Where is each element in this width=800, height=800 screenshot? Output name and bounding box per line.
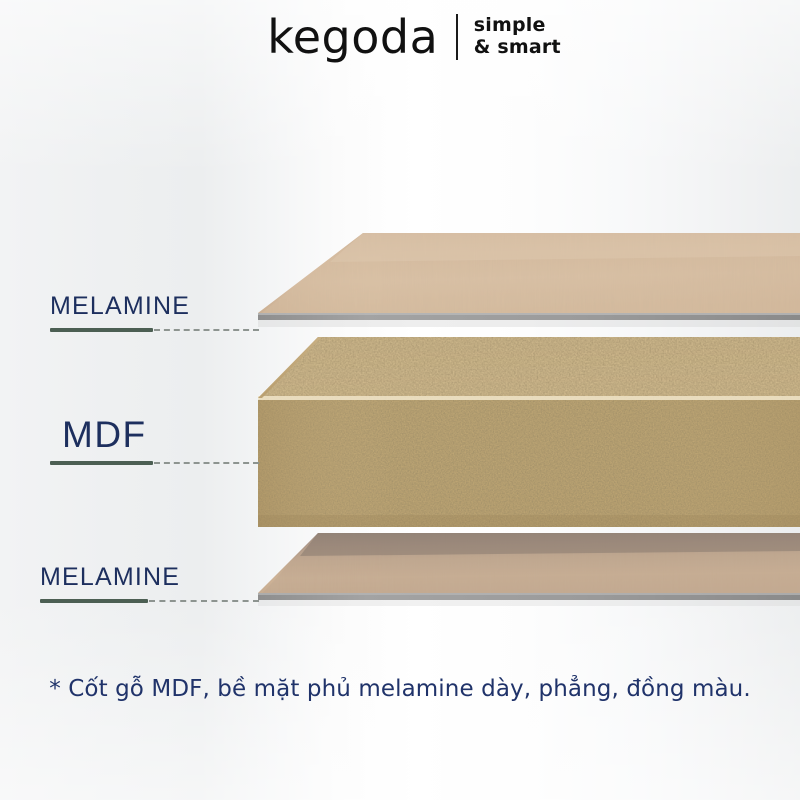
callout-mdf-core: MDF xyxy=(62,414,277,466)
logo-divider-icon xyxy=(456,14,458,60)
mdf-core-board xyxy=(258,337,800,527)
leader-dashed-segment xyxy=(154,329,259,331)
callout-mdf-core-label: MDF xyxy=(62,414,277,456)
brand-tagline-line2: & smart xyxy=(474,37,561,59)
callout-melamine-top-leader xyxy=(50,327,265,333)
leader-dashed-segment xyxy=(149,600,259,602)
brand-name: kegoda xyxy=(267,14,438,60)
callout-melamine-bottom-leader xyxy=(40,598,265,604)
leader-solid-segment xyxy=(50,328,153,332)
callout-melamine-bottom-label: MELAMINE xyxy=(40,563,265,592)
callout-melamine-bottom: MELAMINE xyxy=(40,563,265,604)
leader-solid-segment xyxy=(50,461,153,465)
leader-solid-segment xyxy=(40,599,148,603)
brand-tagline: simple & smart xyxy=(474,15,561,59)
callout-mdf-core-leader xyxy=(50,460,277,466)
product-infographic-page: kegoda simple & smart xyxy=(0,0,800,800)
melamine-top-sheet xyxy=(258,233,800,327)
product-caption: * Cốt gỗ MDF, bề mặt phủ melamine dày, p… xyxy=(0,676,800,702)
leader-dashed-segment xyxy=(154,462,259,464)
melamine-bottom-sheet xyxy=(258,533,800,606)
callout-melamine-top: MELAMINE xyxy=(50,292,265,333)
callout-melamine-top-label: MELAMINE xyxy=(50,292,265,321)
brand-logo: kegoda simple & smart xyxy=(0,14,800,60)
brand-tagline-line1: simple xyxy=(474,15,561,37)
